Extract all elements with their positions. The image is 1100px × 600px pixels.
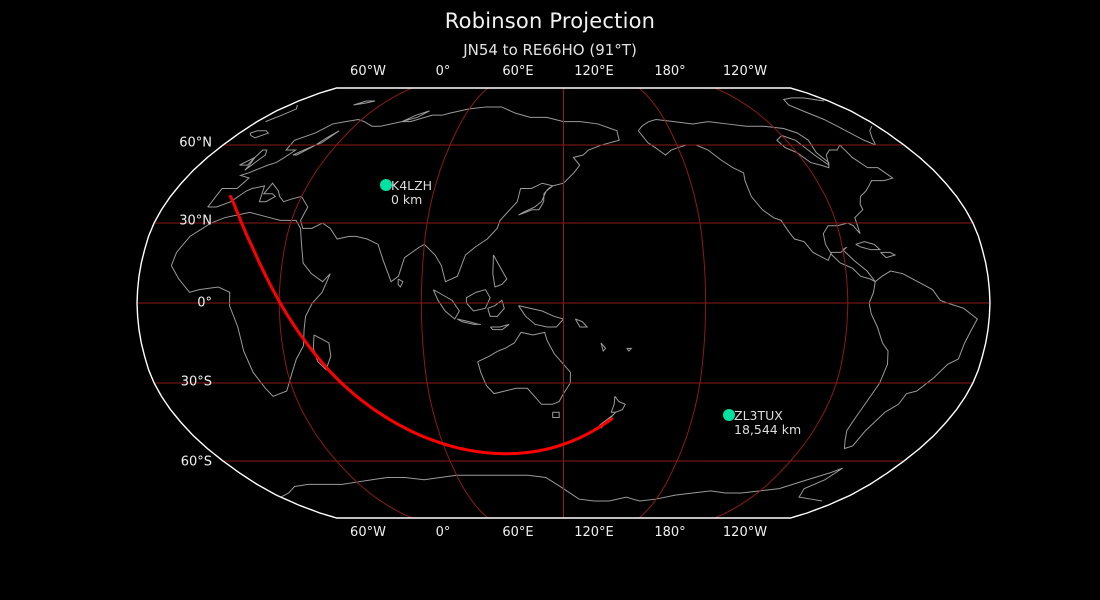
lat-tick-0: 60°N: [60, 136, 212, 151]
station-marker-zl3tux[interactable]: [723, 409, 735, 421]
station-marker-k4lzh[interactable]: [380, 179, 392, 191]
lon-tick-bottom-5: 120°W: [723, 525, 767, 540]
lon-tick-top-4: 180°: [654, 64, 685, 79]
lon-tick-top-0: 60°W: [350, 64, 386, 79]
lon-tick-top-3: 120°E: [574, 64, 614, 79]
lat-tick-3: 30°S: [60, 375, 212, 390]
lon-tick-top-5: 120°W: [723, 64, 767, 79]
lon-tick-bottom-0: 60°W: [350, 525, 386, 540]
lat-tick-1: 30°N: [60, 214, 212, 229]
lat-tick-2: 0°: [60, 296, 212, 311]
lon-tick-bottom-1: 0°: [436, 525, 451, 540]
figure-canvas: Robinson Projection JN54 to RE66HO (91°T…: [0, 0, 1100, 600]
lon-tick-bottom-3: 120°E: [574, 525, 614, 540]
lon-tick-top-1: 0°: [436, 64, 451, 79]
lon-tick-bottom-2: 60°E: [502, 525, 533, 540]
lon-tick-bottom-4: 180°: [654, 525, 685, 540]
graticule-layer: [137, 88, 990, 518]
station-markers: [380, 179, 735, 421]
lat-tick-4: 60°S: [60, 455, 212, 470]
lon-tick-top-2: 60°E: [502, 64, 533, 79]
